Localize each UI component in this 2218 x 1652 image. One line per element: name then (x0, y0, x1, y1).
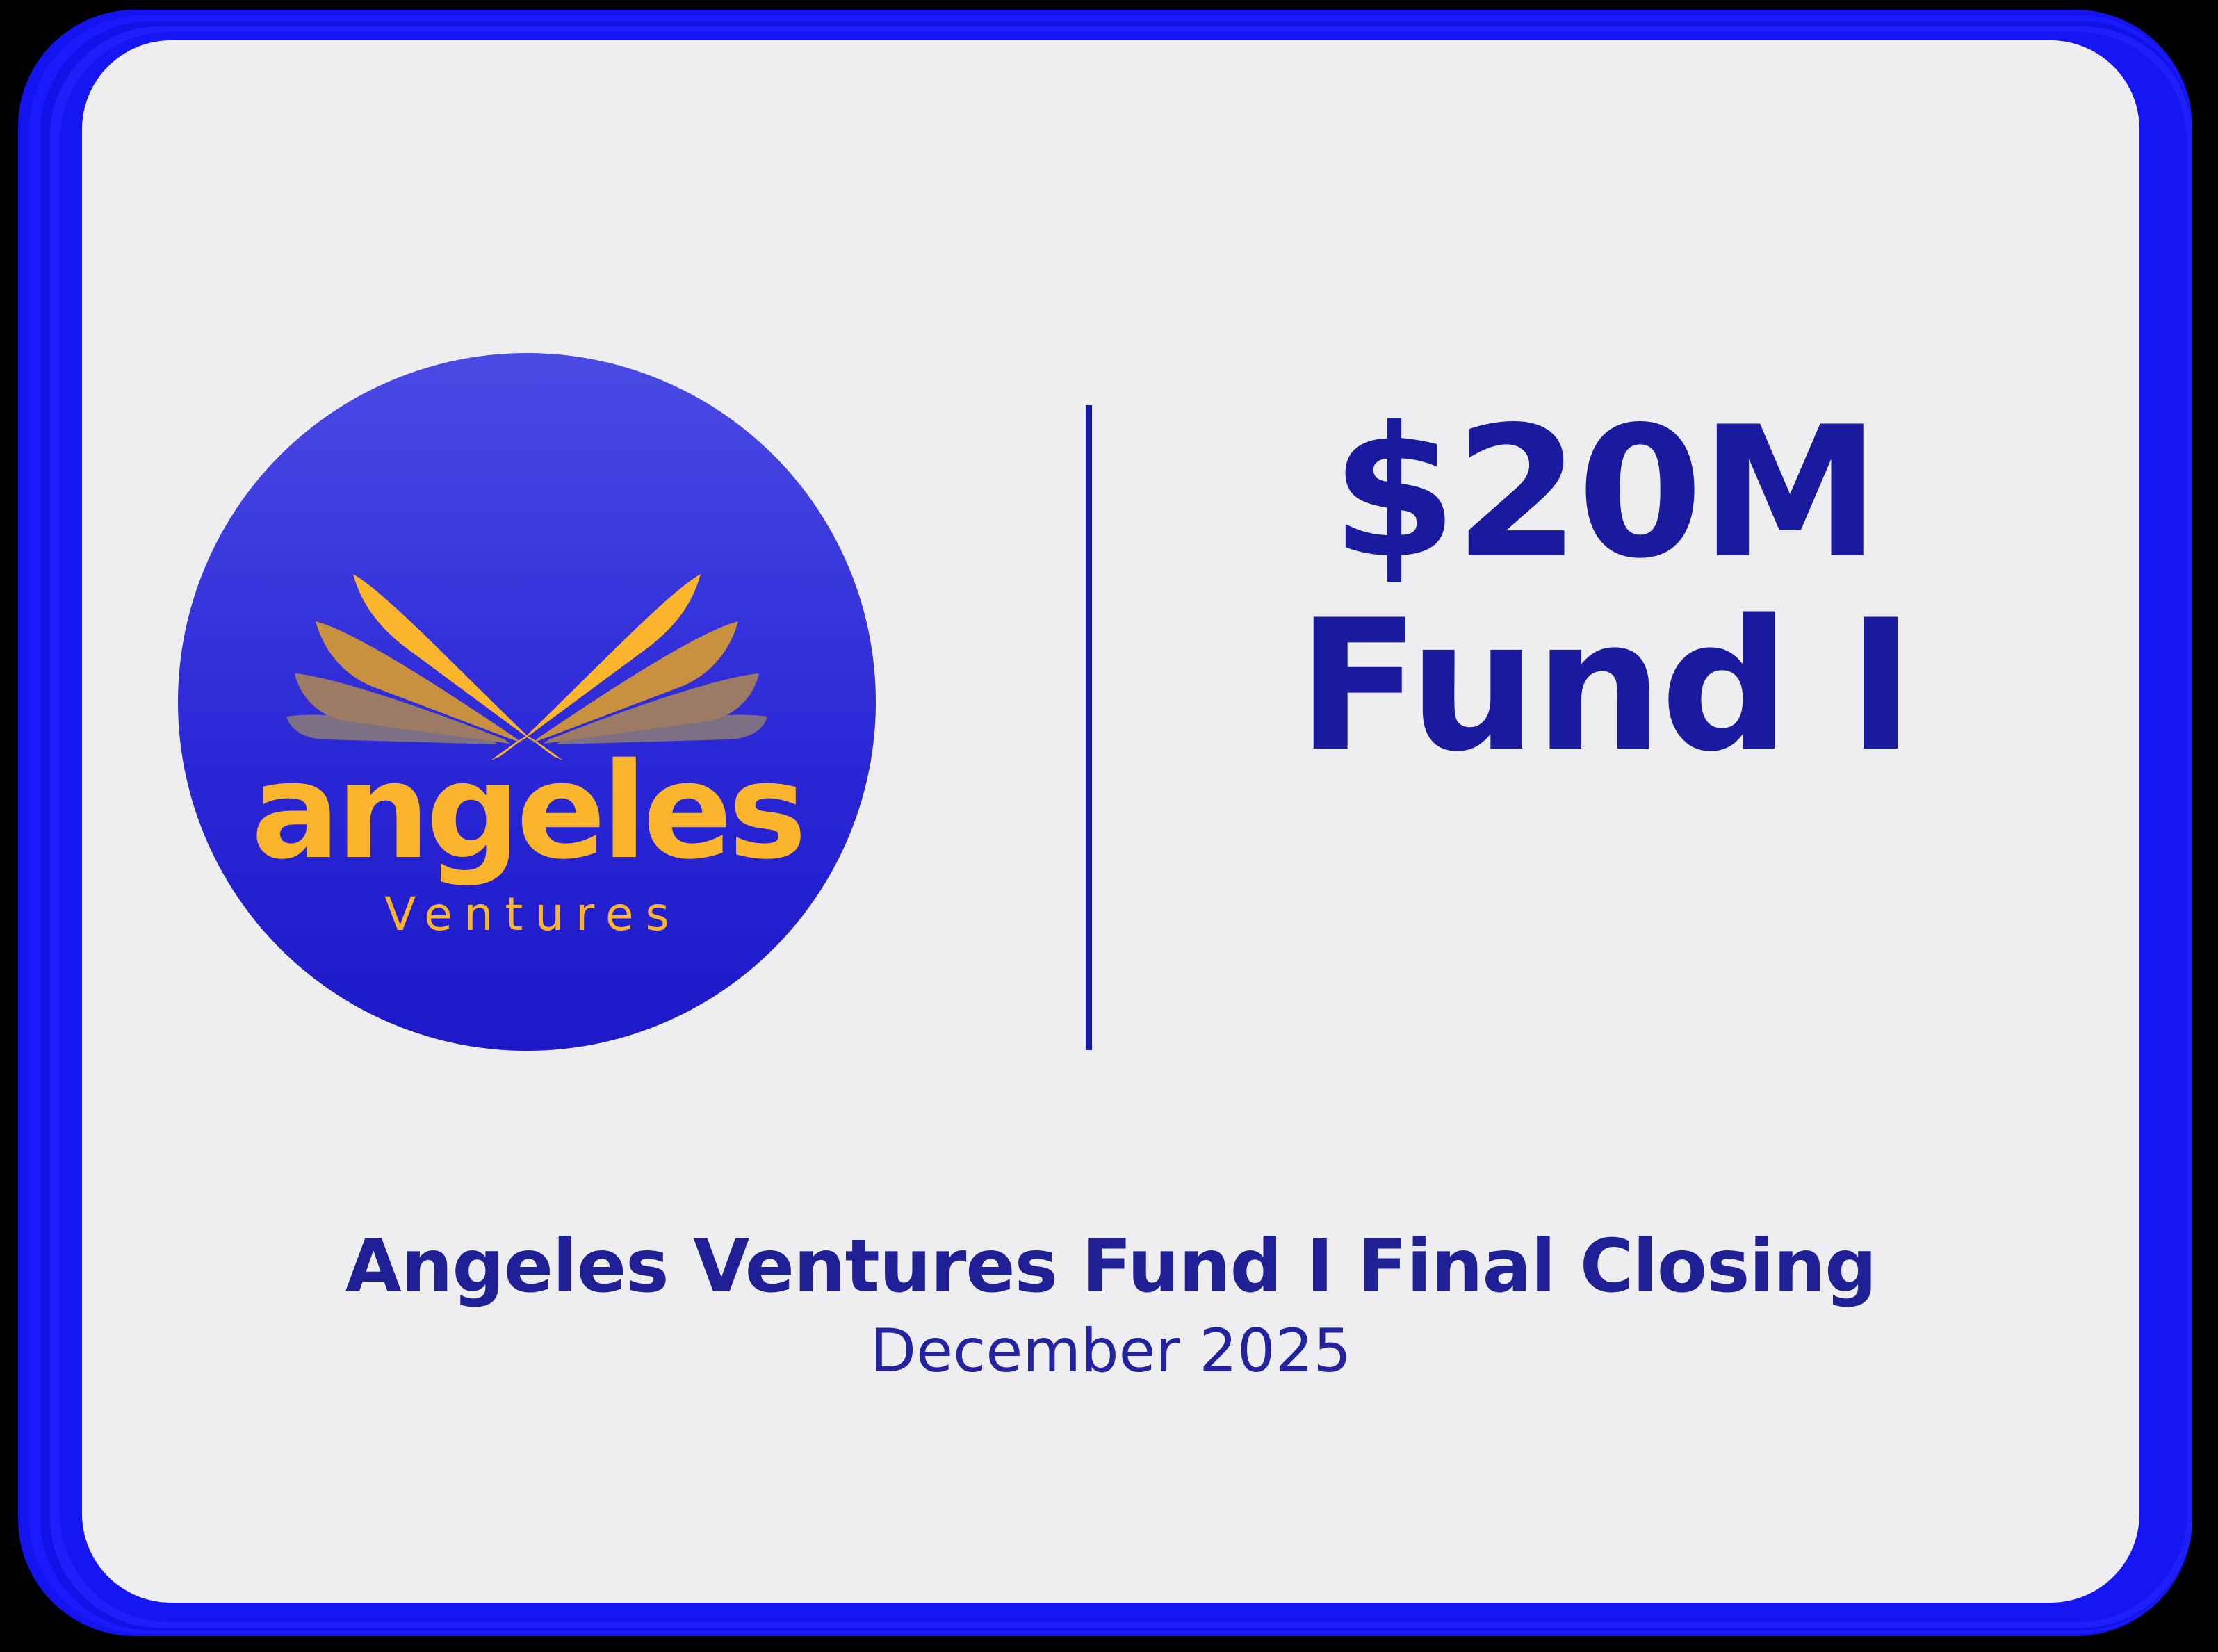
hero-divider (1086, 405, 1092, 1050)
hero-headline: $20M Fund I (1166, 403, 2042, 777)
logo-badge: angeles Ventures (178, 353, 876, 1051)
hero-row: angeles Ventures $20M Fund I (82, 314, 2139, 1106)
angeles-wings-icon (284, 539, 770, 762)
footer-title: Angeles Ventures Fund I Final Closing (82, 1226, 2139, 1308)
logo-tagline: Ventures (178, 892, 876, 938)
card-surface: angeles Ventures $20M Fund I Angeles Ven… (82, 40, 2139, 1603)
announcement-card: angeles Ventures $20M Fund I Angeles Ven… (0, 0, 2218, 1652)
footer-block: Angeles Ventures Fund I Final Closing De… (82, 1226, 2139, 1384)
logo-wordmark: angeles (178, 746, 876, 878)
headline-amount: $20M (1166, 403, 2042, 584)
footer-date: December 2025 (82, 1318, 2139, 1384)
headline-fund: Fund I (1166, 596, 2042, 777)
